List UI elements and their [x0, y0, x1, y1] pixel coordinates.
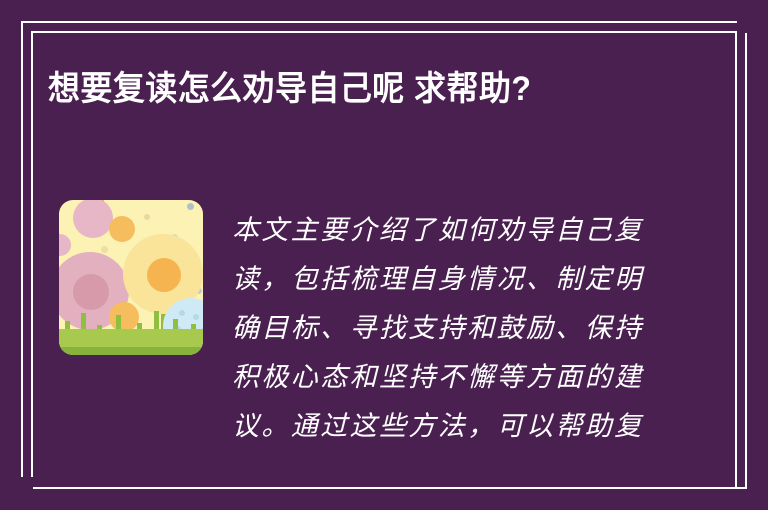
pink-blossom-small [73, 200, 113, 238]
pink-flower-core [73, 274, 109, 310]
article-summary-text: 本文主要介绍了如何劝导自己复读，包括梳理自身情况、制定明确目标、寻找支持和鼓励、… [232, 206, 656, 451]
poster-canvas: 想要复读怎么劝导自己呢 求帮助? [0, 0, 768, 510]
page-title: 想要复读怎么劝导自己呢 求帮助? [48, 64, 668, 114]
pink-blossom-tiny [59, 234, 71, 256]
decorative-dot [144, 214, 150, 220]
dandelion-seed [193, 314, 199, 320]
grass-shadow-band [59, 347, 203, 355]
frame-notch-top-right [737, 19, 751, 33]
orange-flower-head [109, 302, 139, 332]
orange-blossom-small [109, 216, 135, 242]
article-illustration [59, 200, 203, 355]
decorative-dot [101, 246, 108, 253]
dandelion-seed [179, 310, 185, 316]
decorative-dot [187, 203, 194, 210]
yellow-flower-core [147, 258, 181, 292]
frame-notch-bottom-left [19, 477, 33, 491]
illustration-card [59, 200, 203, 355]
